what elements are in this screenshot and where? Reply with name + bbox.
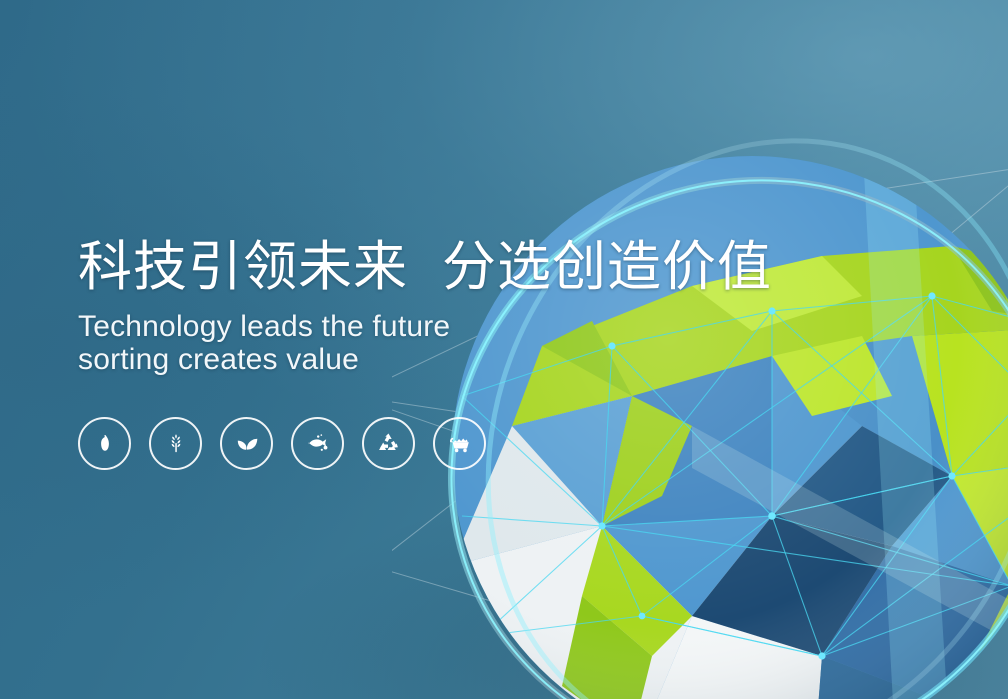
hero-banner: 科技引领未来分选创造价值 Technology leads the future…	[0, 0, 1008, 699]
copy-block: 科技引领未来分选创造价值 Technology leads the future…	[78, 236, 778, 376]
rice-grain-icon[interactable]	[78, 417, 131, 470]
fish-icon[interactable]	[291, 417, 344, 470]
globe-graphic	[392, 96, 1008, 699]
recycle-icon[interactable]	[362, 417, 415, 470]
wheat-icon[interactable]	[149, 417, 202, 470]
industry-icon-row	[78, 417, 486, 470]
mining-cart-icon[interactable]	[433, 417, 486, 470]
headline-cn-part1: 科技引领未来	[78, 237, 408, 297]
subtitle-line-2: sorting creates value	[78, 343, 778, 376]
headline-cn-part2: 分选创造价值	[442, 237, 772, 297]
page-title: 科技引领未来分选创造价值	[78, 236, 778, 298]
subtitle: Technology leads the future sorting crea…	[78, 310, 778, 376]
leaf-icon[interactable]	[220, 417, 273, 470]
subtitle-line-1: Technology leads the future	[78, 310, 778, 343]
